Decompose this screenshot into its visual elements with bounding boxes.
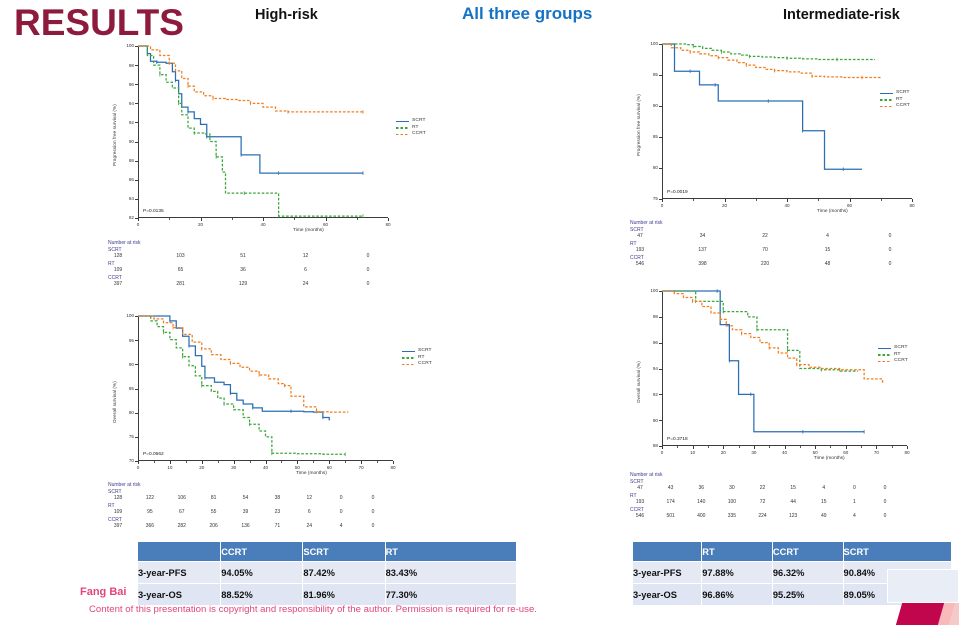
risk-count: 44	[782, 499, 804, 505]
x-axis-tick: 40	[254, 465, 278, 470]
y-axis-tick: 90	[117, 362, 134, 367]
x-axis-tick: 30	[742, 450, 766, 455]
y-axis-tick: 94	[641, 366, 658, 371]
risk-count: 206	[203, 523, 225, 529]
risk-count: 43	[660, 485, 682, 491]
x-axis-tick: 60	[314, 222, 338, 227]
y-axis-tick: 80	[641, 165, 658, 170]
risk-count: 0	[357, 267, 379, 273]
table-cell: 88.52%	[221, 584, 303, 606]
y-axis-label: Progression free survival (%)	[636, 94, 641, 156]
risk-count: 15	[782, 485, 804, 491]
intermediate-risk-heading: Intermediate-risk	[783, 7, 900, 23]
risk-count: 95	[139, 509, 161, 515]
risk-count: 193	[629, 247, 651, 253]
y-axis-tick: 100	[641, 288, 658, 293]
table-header-row: RTCCRTSCRT	[633, 542, 952, 562]
risk-count: 4	[817, 233, 839, 239]
risk-count: 0	[362, 523, 384, 529]
risk-count: 4	[813, 485, 835, 491]
risk-count: 48	[817, 261, 839, 267]
legend-label: SCRT	[894, 345, 908, 350]
legend-label: RT	[896, 97, 903, 102]
risk-count: 72	[752, 499, 774, 505]
table-high-risk-summary: CCRTSCRTRT3-year-PFS94.05%87.42%83.43%3-…	[137, 541, 517, 606]
x-axis-tick: 20	[190, 465, 214, 470]
x-axis-tick: 50	[803, 450, 827, 455]
legend-label: RT	[418, 355, 425, 360]
x-axis-label: Time (months)	[293, 228, 324, 233]
x-axis-tick: 10	[158, 465, 182, 470]
x-axis-tick: 30	[222, 465, 246, 470]
all-three-groups-heading: All three groups	[462, 4, 592, 24]
risk-count: 55	[203, 509, 225, 515]
column-header: RT	[702, 542, 773, 562]
number-at-risk-title: Number at risk	[108, 482, 141, 488]
x-axis-tick: 40	[251, 222, 275, 227]
risk-count: 282	[171, 523, 193, 529]
risk-count: 0	[874, 513, 896, 519]
column-header: RT	[385, 542, 516, 562]
x-axis-tick: 0	[126, 465, 150, 470]
y-axis-tick: 96	[641, 340, 658, 345]
table-row: 3-year-OS88.52%81.96%77.30%	[138, 584, 517, 606]
risk-count: 70	[754, 247, 776, 253]
risk-count: 71	[266, 523, 288, 529]
y-axis-tick: 98	[117, 63, 134, 68]
risk-count: 398	[692, 261, 714, 267]
risk-count: 224	[752, 513, 774, 519]
risk-count: 38	[266, 495, 288, 501]
risk-count: 0	[879, 247, 901, 253]
row-label: 3-year-OS	[138, 584, 221, 606]
risk-count: 123	[782, 513, 804, 519]
corner-panel	[887, 569, 959, 603]
risk-count: 54	[235, 495, 257, 501]
legend-swatch-icon	[396, 127, 409, 129]
risk-count: 0	[874, 485, 896, 491]
risk-count: 397	[107, 281, 129, 287]
legend-swatch-icon	[880, 93, 893, 95]
risk-count: 65	[170, 267, 192, 273]
legend-label: CCRT	[412, 131, 426, 136]
x-axis-tick: 20	[711, 450, 735, 455]
risk-count: 67	[171, 509, 193, 515]
legend-label: CCRT	[894, 358, 908, 363]
y-axis-tick: 90	[641, 418, 658, 423]
y-axis-tick: 75	[641, 196, 658, 201]
risk-count: 1	[843, 499, 865, 505]
table-cell: 87.42%	[303, 562, 385, 584]
risk-count: 128	[107, 495, 129, 501]
x-axis-tick: 80	[895, 450, 919, 455]
risk-count: 23	[266, 509, 288, 515]
column-header: CCRT	[772, 542, 843, 562]
y-axis-tick: 100	[641, 41, 658, 46]
risk-count: 0	[879, 233, 901, 239]
risk-count: 15	[817, 247, 839, 253]
x-axis-tick: 70	[349, 465, 373, 470]
column-header	[138, 542, 221, 562]
column-header: SCRT	[303, 542, 385, 562]
table-cell: 94.05%	[221, 562, 303, 584]
x-axis-label: Time (months)	[814, 456, 845, 461]
x-axis-tick: 0	[650, 203, 674, 208]
table-row: 3-year-PFS94.05%87.42%83.43%	[138, 562, 517, 584]
x-axis-tick: 70	[864, 450, 888, 455]
legend-label: SCRT	[896, 90, 910, 95]
risk-count: 106	[171, 495, 193, 501]
legend-swatch-icon	[878, 354, 891, 356]
risk-count: 47	[629, 233, 651, 239]
author-name: Fang Bai	[80, 586, 126, 598]
legend-swatch-icon	[402, 351, 415, 353]
risk-count: 546	[629, 513, 651, 519]
risk-count: 220	[754, 261, 776, 267]
number-at-risk-title: Number at risk	[630, 220, 663, 226]
x-axis-tick: 0	[650, 450, 674, 455]
risk-count: 397	[107, 523, 129, 529]
y-axis-label: Progression free survival (%)	[112, 104, 117, 166]
risk-count: 30	[721, 485, 743, 491]
legend-swatch-icon	[880, 106, 893, 108]
x-axis-tick: 10	[681, 450, 705, 455]
risk-count: 0	[879, 261, 901, 267]
risk-count: 22	[754, 233, 776, 239]
y-axis-tick: 92	[117, 120, 134, 125]
risk-count: 39	[235, 509, 257, 515]
legend-swatch-icon	[396, 121, 409, 123]
risk-count: 193	[629, 499, 651, 505]
p-value-annotation: P=0.0019	[667, 190, 688, 195]
y-axis-tick: 84	[117, 196, 134, 201]
page-title: RESULTS	[14, 2, 184, 44]
column-header	[633, 542, 702, 562]
risk-count: 122	[139, 495, 161, 501]
risk-count: 22	[752, 485, 774, 491]
legend-swatch-icon	[402, 364, 415, 366]
table-cell: 95.25%	[772, 584, 843, 606]
risk-count: 281	[170, 281, 192, 287]
risk-count: 174	[660, 499, 682, 505]
risk-count: 129	[232, 281, 254, 287]
x-axis-tick: 60	[317, 465, 341, 470]
legend-label: RT	[894, 352, 901, 357]
risk-count: 36	[232, 267, 254, 273]
risk-count: 0	[362, 509, 384, 515]
legend-swatch-icon	[878, 361, 891, 363]
risk-count: 47	[629, 485, 651, 491]
column-header: CCRT	[221, 542, 303, 562]
risk-count: 137	[692, 247, 714, 253]
risk-count: 12	[295, 253, 317, 259]
risk-count: 49	[813, 513, 835, 519]
y-axis-label: Overall survival (%)	[636, 361, 641, 403]
table-cell: 97.88%	[702, 562, 773, 584]
x-axis-tick: 80	[900, 203, 924, 208]
risk-count: 0	[843, 485, 865, 491]
risk-count: 109	[107, 267, 129, 273]
chart-high-risk-pfs: 828486889092949698100Progression free su…	[104, 40, 454, 245]
x-axis-tick: 0	[126, 222, 150, 227]
y-axis-tick: 95	[641, 72, 658, 77]
legend-swatch-icon	[402, 357, 415, 359]
table-cell: 96.32%	[772, 562, 843, 584]
risk-count: 24	[298, 523, 320, 529]
risk-count: 0	[362, 495, 384, 501]
risk-count: 34	[692, 233, 714, 239]
y-axis-tick: 75	[117, 434, 134, 439]
chart-intermediate-risk-pfs: 7580859095100Progression free survival (…	[628, 38, 948, 223]
table-cell: 81.96%	[303, 584, 385, 606]
risk-count: 4	[330, 523, 352, 529]
legend-label: SCRT	[418, 348, 432, 353]
legend-label: CCRT	[418, 361, 432, 366]
risk-count: 6	[298, 509, 320, 515]
legend-label: CCRT	[896, 103, 910, 108]
y-axis-tick: 98	[641, 314, 658, 319]
y-axis-tick: 88	[117, 158, 134, 163]
risk-count: 136	[235, 523, 257, 529]
risk-count: 81	[203, 495, 225, 501]
risk-count: 546	[629, 261, 651, 267]
table-cell: 83.43%	[385, 562, 516, 584]
x-axis-tick: 20	[189, 222, 213, 227]
y-axis-tick: 95	[117, 338, 134, 343]
number-at-risk-title: Number at risk	[630, 472, 663, 478]
y-axis-tick: 90	[641, 103, 658, 108]
risk-count: 4	[843, 513, 865, 519]
risk-count: 12	[298, 495, 320, 501]
y-axis-tick: 90	[117, 139, 134, 144]
legend-swatch-icon	[396, 134, 409, 136]
chart-high-risk-os: 707580859095100Overall survival (%)01020…	[104, 310, 454, 485]
table-header-row: CCRTSCRTRT	[138, 542, 517, 562]
column-header: SCRT	[843, 542, 951, 562]
y-axis-tick: 94	[117, 101, 134, 106]
x-axis-tick: 40	[775, 203, 799, 208]
risk-count: 103	[170, 253, 192, 259]
y-axis-tick: 82	[117, 215, 134, 220]
table-cell: 77.30%	[385, 584, 516, 606]
risk-count: 15	[813, 499, 835, 505]
y-axis-tick: 80	[117, 410, 134, 415]
y-axis-tick: 70	[117, 458, 134, 463]
risk-count: 501	[660, 513, 682, 519]
x-axis-tick: 40	[773, 450, 797, 455]
x-axis-tick: 20	[713, 203, 737, 208]
risk-count: 140	[690, 499, 712, 505]
x-axis-tick: 60	[834, 450, 858, 455]
x-axis-tick: 50	[285, 465, 309, 470]
legend-label: SCRT	[412, 118, 426, 123]
risk-count: 36	[690, 485, 712, 491]
y-axis-tick: 92	[641, 392, 658, 397]
y-axis-tick: 86	[117, 177, 134, 182]
risk-count: 0	[357, 253, 379, 259]
legend-label: RT	[412, 125, 419, 130]
risk-count: 0	[357, 281, 379, 287]
table-cell: 96.86%	[702, 584, 773, 606]
y-axis-tick: 100	[117, 43, 134, 48]
risk-count: 109	[107, 509, 129, 515]
y-axis-tick: 96	[117, 82, 134, 87]
high-risk-heading: High-risk	[255, 7, 318, 23]
risk-count: 366	[139, 523, 161, 529]
row-label: 3-year-PFS	[138, 562, 221, 584]
y-axis-tick: 85	[117, 386, 134, 391]
risk-count: 128	[107, 253, 129, 259]
risk-count: 0	[330, 509, 352, 515]
y-axis-tick: 85	[641, 134, 658, 139]
y-axis-tick: 100	[117, 313, 134, 318]
chart-intermediate-risk-os: 889092949698100Overall survival (%)01020…	[628, 285, 948, 475]
number-at-risk-title: Number at risk	[108, 240, 141, 246]
row-label: 3-year-PFS	[633, 562, 702, 584]
risk-count: 0	[874, 499, 896, 505]
copyright-note: Content of this presentation is copyrigh…	[89, 604, 537, 615]
risk-count: 24	[295, 281, 317, 287]
x-axis-tick: 80	[381, 465, 405, 470]
risk-count: 6	[295, 267, 317, 273]
row-label: 3-year-OS	[633, 584, 702, 606]
legend-swatch-icon	[878, 348, 891, 350]
risk-count: 400	[690, 513, 712, 519]
risk-count: 335	[721, 513, 743, 519]
x-axis-tick: 60	[838, 203, 862, 208]
p-value-annotation: P=0.0662	[143, 452, 164, 457]
x-axis-label: Time (months)	[817, 209, 848, 214]
y-axis-label: Overall survival (%)	[112, 381, 117, 423]
x-axis-tick: 80	[376, 222, 400, 227]
p-value-annotation: P=0.0135	[143, 209, 164, 214]
x-axis-label: Time (months)	[296, 471, 327, 476]
risk-count: 100	[721, 499, 743, 505]
risk-count: 0	[330, 495, 352, 501]
legend-swatch-icon	[880, 99, 893, 101]
y-axis-tick: 88	[641, 443, 658, 448]
p-value-annotation: P=0.3718	[667, 437, 688, 442]
risk-count: 51	[232, 253, 254, 259]
